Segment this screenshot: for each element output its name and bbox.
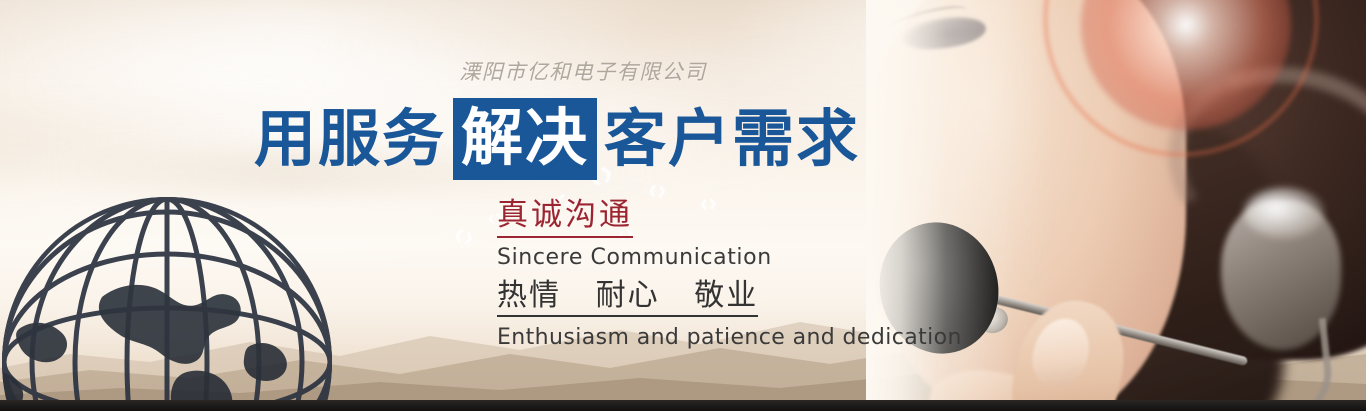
tagline-en-primary: Sincere Communication bbox=[497, 245, 962, 270]
bottom-bar bbox=[0, 400, 1366, 411]
tagline-cn-primary: 真诚沟通 bbox=[497, 198, 633, 238]
promotional-banner: ❮❯ ❮❯ ❮❯ ❮❯ ❮❯ ❮❯ ❮❯ ❮❯ 溧阳市亿和电子有限公司 用服务 … bbox=[0, 0, 1366, 411]
headline: 用服务 解决 客户需求 bbox=[252, 98, 862, 180]
headline-part-before: 用服务 bbox=[252, 108, 448, 170]
tagline-cn-secondary: 热情 耐心 敬业 bbox=[497, 279, 758, 318]
tagline-block: 真诚沟通 Sincere Communication 热情 耐心 敬业 Enth… bbox=[497, 198, 962, 350]
headline-part-after: 客户需求 bbox=[602, 108, 862, 170]
tagline-en-secondary: Enthusiasm and patience and dedication bbox=[497, 325, 962, 350]
headline-highlight: 解决 bbox=[453, 98, 597, 180]
company-name: 溧阳市亿和电子有限公司 bbox=[0, 56, 1366, 86]
banner-text-content: 溧阳市亿和电子有限公司 用服务 解决 客户需求 真诚沟通 Sincere Com… bbox=[0, 0, 1366, 411]
